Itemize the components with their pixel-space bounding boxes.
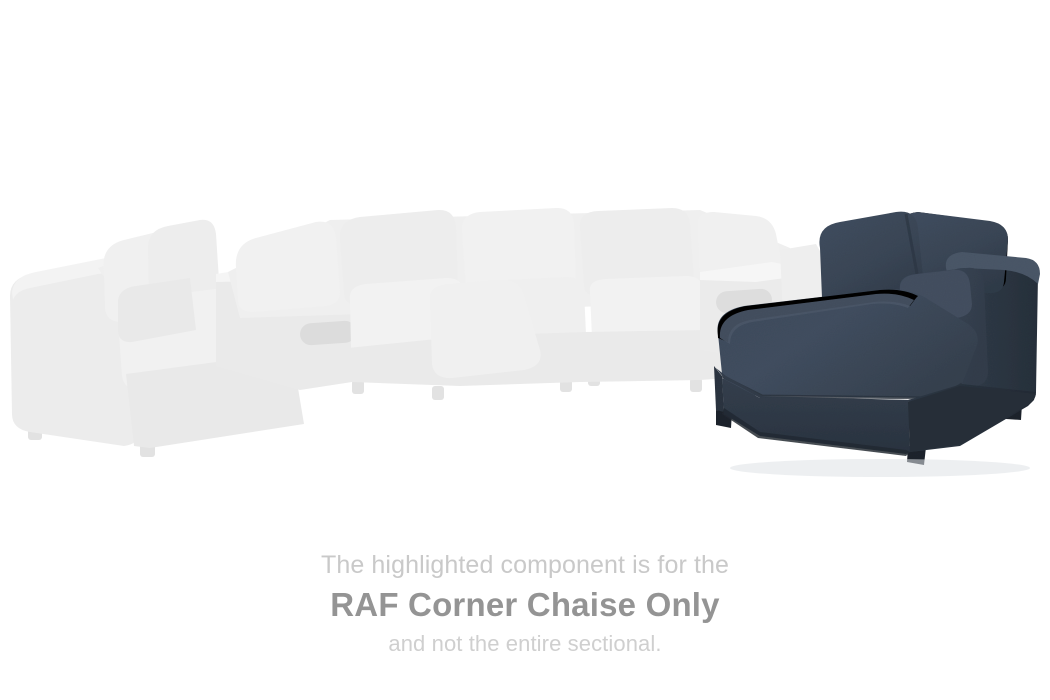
ghost-console-cupholder-bottom	[299, 320, 356, 346]
ghost-sectional-group	[10, 208, 826, 457]
component-caption: The highlighted component is for the RAF…	[0, 548, 1050, 660]
sectional-illustration	[0, 0, 1050, 520]
sectional-illustration-svg	[0, 0, 1050, 520]
chaise-floor-shadow	[730, 459, 1030, 477]
caption-lead-line: The highlighted component is for the	[0, 548, 1050, 582]
caption-tail-line: and not the entire sectional.	[0, 628, 1050, 660]
product-figure: The highlighted component is for the RAF…	[0, 0, 1050, 700]
caption-component-name: RAF Corner Chaise Only	[0, 582, 1050, 628]
